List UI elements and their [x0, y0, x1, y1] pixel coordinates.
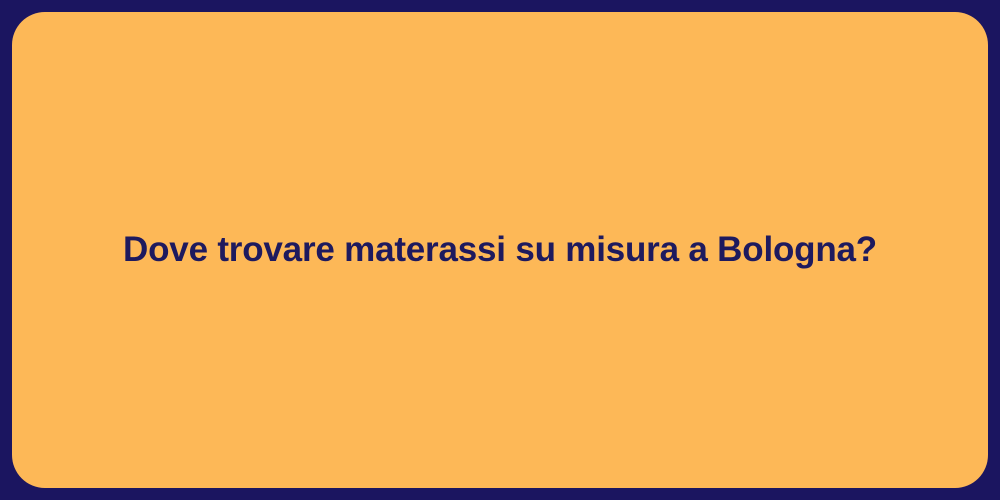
hero-card-content: Dove trovare materassi su misura a Bolog… [12, 230, 988, 270]
page-title: Dove trovare materassi su misura a Bolog… [123, 230, 877, 270]
hero-card: Dove trovare materassi su misura a Bolog… [12, 12, 988, 488]
page-frame: Dove trovare materassi su misura a Bolog… [0, 0, 1000, 500]
